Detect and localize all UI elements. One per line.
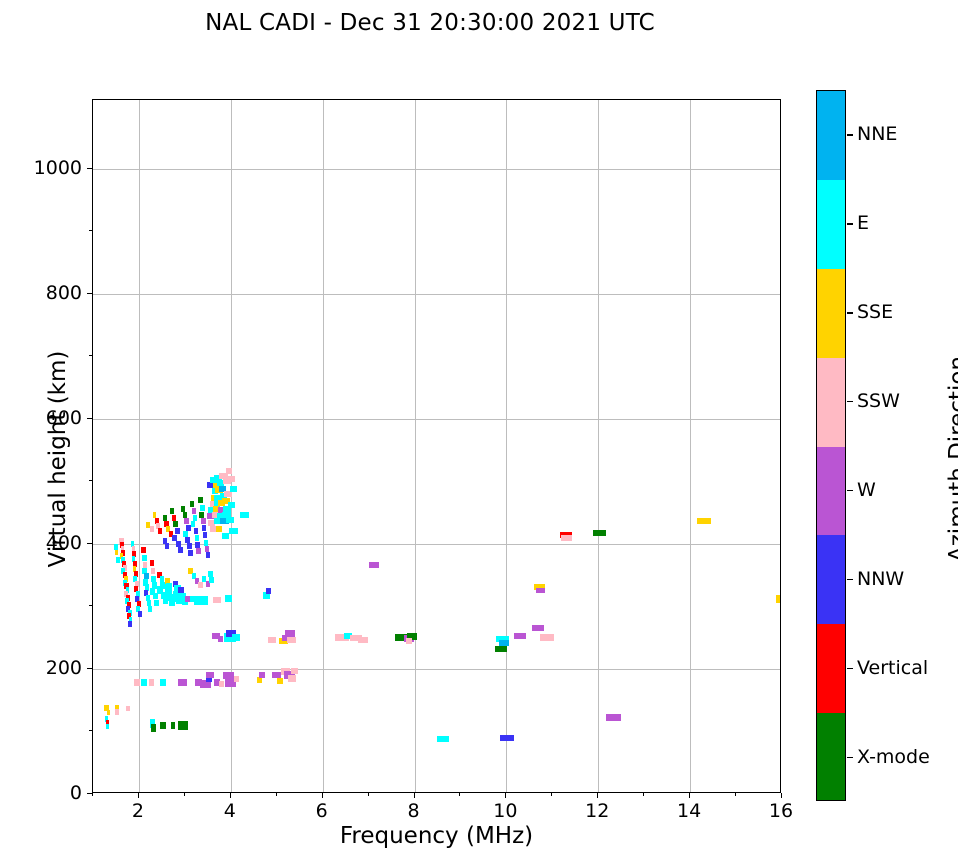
scatter-point xyxy=(259,672,266,678)
scatter-point xyxy=(776,595,780,603)
x-axis-minor-tick xyxy=(276,793,277,796)
scatter-point xyxy=(181,506,186,512)
x-axis-tick-label: 14 xyxy=(677,800,701,822)
scatter-point xyxy=(134,679,140,686)
x-axis-tick xyxy=(414,793,415,798)
colorbar-tick xyxy=(847,401,853,402)
scatter-point xyxy=(199,512,204,518)
colorbar-segment-w[interactable] xyxy=(817,447,845,536)
scatter-point xyxy=(514,633,526,639)
y-axis-tick xyxy=(87,293,92,294)
scatter-point xyxy=(114,544,118,550)
x-axis-tick xyxy=(505,793,506,798)
scatter-point xyxy=(150,560,154,566)
scatter-point xyxy=(532,625,544,631)
y-axis-tick xyxy=(87,543,92,544)
scatter-point xyxy=(178,547,183,553)
x-axis-tick-label: 2 xyxy=(132,800,144,822)
scatter-point xyxy=(291,668,298,674)
colorbar-tick xyxy=(847,223,853,224)
scatter-point xyxy=(226,517,234,523)
scatter-point xyxy=(183,531,188,537)
scatter-point xyxy=(153,593,157,599)
x-axis-tick xyxy=(597,793,598,798)
scatter-point xyxy=(190,501,195,507)
scatter-point xyxy=(192,508,197,514)
scatter-point xyxy=(287,637,296,643)
scatter-point xyxy=(202,525,207,531)
scatter-point xyxy=(128,621,132,627)
x-axis-minor-tick xyxy=(368,793,369,796)
scatter-point xyxy=(173,521,178,527)
colorbar[interactable] xyxy=(816,90,846,801)
scatter-point xyxy=(232,634,240,641)
y-axis-minor-tick xyxy=(89,730,92,731)
colorbar-label-e: E xyxy=(857,212,869,234)
scatter-point xyxy=(184,518,189,524)
scatter-point xyxy=(175,528,180,534)
scatter-point xyxy=(358,637,368,643)
scatter-point xyxy=(160,722,166,729)
scatter-point xyxy=(234,676,239,682)
scatter-point xyxy=(138,611,142,617)
scatter-point xyxy=(142,555,146,561)
scatter-point xyxy=(218,636,224,642)
scatter-point xyxy=(216,526,222,532)
scatter-point xyxy=(169,599,175,606)
scatter-point xyxy=(229,528,237,534)
colorbar-tick xyxy=(847,490,853,491)
scatter-point xyxy=(154,600,159,606)
scatter-point xyxy=(230,486,237,492)
scatter-point xyxy=(185,537,190,543)
colorbar-label-x-mode: X-mode xyxy=(857,746,930,768)
scatter-point xyxy=(606,714,622,721)
scatter-point xyxy=(163,515,167,521)
colorbar-label: Azimuth Direction xyxy=(945,309,958,609)
y-axis-minor-tick xyxy=(89,230,92,231)
y-axis-tick-label: 200 xyxy=(14,657,82,679)
scatter-point xyxy=(540,634,554,641)
scatter-point xyxy=(223,672,233,679)
y-axis-tick xyxy=(87,668,92,669)
scatter-point xyxy=(437,736,450,742)
scatter-point xyxy=(219,681,224,687)
colorbar-label-w: W xyxy=(857,479,876,501)
y-axis-minor-tick xyxy=(89,605,92,606)
x-axis-minor-tick xyxy=(184,793,185,796)
scatter-point xyxy=(171,722,175,729)
scatter-point xyxy=(288,675,295,682)
colorbar-tick xyxy=(847,134,853,135)
colorbar-segment-vertical[interactable] xyxy=(817,624,845,713)
scatter-point xyxy=(209,577,214,583)
scatter-point xyxy=(189,596,196,602)
scatter-point xyxy=(193,515,198,521)
scatter-point xyxy=(213,597,220,603)
scatter-point xyxy=(198,497,203,503)
scatter-point xyxy=(195,535,200,541)
scatter-point xyxy=(369,562,379,568)
colorbar-label-nne: NNE xyxy=(857,123,897,145)
scatter-point xyxy=(126,706,130,711)
x-axis-tick-label: 10 xyxy=(493,800,517,822)
scatter-point xyxy=(151,724,156,732)
page-title: NAL CADI - Dec 31 20:30:00 2021 UTC xyxy=(0,10,860,36)
y-axis-tick xyxy=(87,168,92,169)
scatter-point xyxy=(272,672,281,678)
colorbar-tick xyxy=(847,757,853,758)
x-axis-tick xyxy=(781,793,782,798)
x-axis-minor-tick xyxy=(551,793,552,796)
scatter-point xyxy=(697,518,711,524)
x-axis-tick xyxy=(138,793,139,798)
scatter-point xyxy=(205,546,210,552)
colorbar-label-vertical: Vertical xyxy=(857,657,928,679)
x-axis-tick-label: 6 xyxy=(316,800,328,822)
scatter-point xyxy=(222,533,229,539)
scatter-point xyxy=(143,562,147,568)
scatter-point xyxy=(141,679,147,686)
scatter-point xyxy=(172,535,177,541)
x-axis-tick xyxy=(230,793,231,798)
x-axis-minor-tick xyxy=(459,793,460,796)
scatter-point xyxy=(185,596,191,602)
scatter-point xyxy=(151,568,155,574)
scatter-point xyxy=(201,518,206,524)
colorbar-segment-nnw[interactable] xyxy=(817,535,845,624)
y-axis-tick-label: 0 xyxy=(14,782,82,804)
colorbar-label-ssw: SSW xyxy=(857,390,900,412)
scatter-point xyxy=(149,679,155,686)
scatter-point xyxy=(187,543,192,549)
scatter-point xyxy=(196,548,201,554)
scatter-point xyxy=(226,468,232,474)
scatter-point xyxy=(200,505,205,511)
scatter-point xyxy=(198,582,203,588)
scatter-point xyxy=(150,526,154,532)
scatter-point xyxy=(188,550,193,556)
scatter-point xyxy=(208,571,213,577)
scatter-point xyxy=(240,512,248,518)
scatter-point xyxy=(499,640,509,646)
colorbar-segment-sse[interactable] xyxy=(817,269,845,358)
scatter-point xyxy=(178,679,187,686)
scatter-point xyxy=(206,552,211,558)
scatter-point xyxy=(593,530,606,536)
scatter-point xyxy=(500,735,514,741)
scatter-point xyxy=(268,637,275,643)
scatter-points-layer xyxy=(93,100,780,792)
ionogram-plot-area xyxy=(92,99,781,793)
scatter-point xyxy=(106,724,109,729)
y-axis-label: Virtual height (km) xyxy=(45,309,71,609)
y-axis-tick-label: 800 xyxy=(14,282,82,304)
x-axis-tick-label: 16 xyxy=(769,800,793,822)
colorbar-tick xyxy=(847,579,853,580)
scatter-point xyxy=(115,550,118,555)
scatter-point xyxy=(495,646,507,652)
scatter-point xyxy=(228,476,235,482)
scatter-point xyxy=(206,672,214,678)
scatter-point xyxy=(203,532,208,538)
colorbar-label-sse: SSE xyxy=(857,301,893,323)
scatter-point xyxy=(178,721,188,730)
colorbar-segment-ssw[interactable] xyxy=(817,358,845,447)
scatter-point xyxy=(115,709,119,715)
scatter-point xyxy=(170,508,174,514)
scatter-point xyxy=(225,595,232,602)
x-axis-tick-label: 4 xyxy=(224,800,236,822)
scatter-point xyxy=(107,710,110,715)
colorbar-segment-e[interactable] xyxy=(817,180,845,269)
x-axis-tick xyxy=(322,793,323,798)
x-axis-tick-label: 8 xyxy=(407,800,419,822)
colorbar-tick xyxy=(847,668,853,669)
scatter-point xyxy=(266,588,272,594)
y-axis-minor-tick xyxy=(89,480,92,481)
x-axis-minor-tick xyxy=(643,793,644,796)
scatter-point xyxy=(183,512,188,518)
scatter-point xyxy=(406,638,412,644)
scatter-point xyxy=(561,535,572,541)
x-axis-tick-label: 12 xyxy=(585,800,609,822)
colorbar-segment-x-mode[interactable] xyxy=(817,713,845,801)
scatter-point xyxy=(277,678,283,684)
x-axis-label: Frequency (MHz) xyxy=(92,823,781,849)
scatter-point xyxy=(176,541,181,547)
scatter-point xyxy=(204,540,209,546)
x-axis-minor-tick xyxy=(92,793,93,796)
scatter-point xyxy=(228,502,235,508)
x-axis-tick xyxy=(689,793,690,798)
scatter-point xyxy=(194,528,199,534)
x-axis-minor-tick xyxy=(735,793,736,796)
scatter-point xyxy=(141,547,145,553)
scatter-point xyxy=(536,588,544,593)
colorbar-label-nnw: NNW xyxy=(857,568,904,590)
scatter-point xyxy=(195,542,200,548)
scatter-point xyxy=(172,515,176,521)
scatter-point xyxy=(191,521,196,527)
y-axis-tick xyxy=(87,418,92,419)
scatter-point xyxy=(165,543,169,549)
y-axis-minor-tick xyxy=(89,355,92,356)
scatter-point xyxy=(153,512,157,518)
colorbar-segment-nne[interactable] xyxy=(817,91,845,180)
colorbar-tick xyxy=(847,312,853,313)
scatter-point xyxy=(158,528,162,534)
y-axis-tick-label: 1000 xyxy=(14,157,82,179)
scatter-point xyxy=(148,606,152,612)
scatter-point xyxy=(160,679,166,686)
